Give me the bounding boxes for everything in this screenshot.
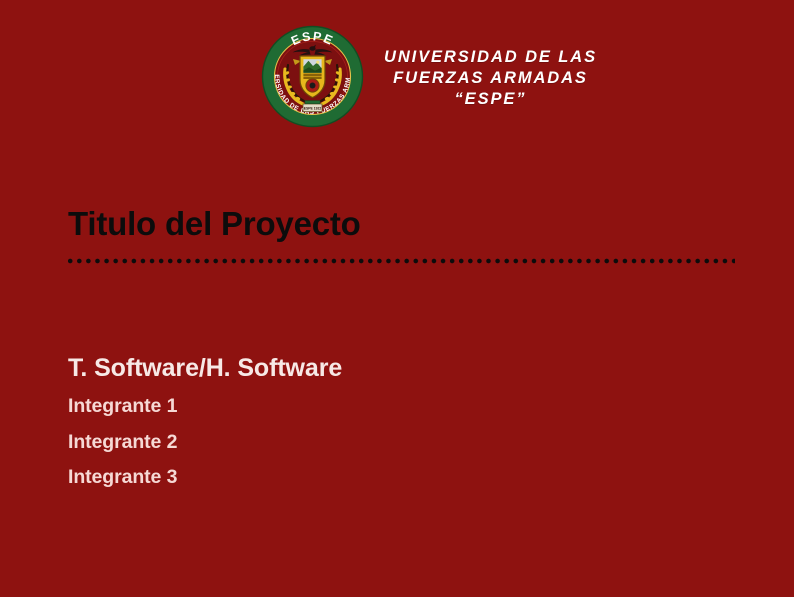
- list-item: Integrante 1: [68, 389, 177, 425]
- member-list: Integrante 1 Integrante 2 Integrante 3: [68, 389, 177, 496]
- university-name: UNIVERSIDAD DE LAS FUERZAS ARMADAS “ESPE…: [384, 43, 597, 110]
- university-name-line-3: “ESPE”: [384, 89, 597, 110]
- dotted-divider: [68, 258, 735, 264]
- university-name-line-1: UNIVERSIDAD DE LAS: [384, 47, 597, 68]
- list-item: Integrante 2: [68, 425, 177, 461]
- list-item: Integrante 3: [68, 460, 177, 496]
- subject-subtitle: T. Software/H. Software: [68, 352, 342, 384]
- espe-university-seal-icon: ESPE UNIVERSIDAD DE LAS FUERZAS ARMADAS: [259, 23, 366, 130]
- brand-header: ESPE UNIVERSIDAD DE LAS FUERZAS ARMADAS: [259, 23, 597, 130]
- presentation-title-slide: ESPE UNIVERSIDAD DE LAS FUERZAS ARMADAS: [0, 0, 794, 597]
- svg-text:ESPE 1922: ESPE 1922: [304, 106, 322, 110]
- page-title: Titulo del Proyecto: [68, 202, 361, 246]
- university-name-line-2: FUERZAS ARMADAS: [384, 68, 597, 89]
